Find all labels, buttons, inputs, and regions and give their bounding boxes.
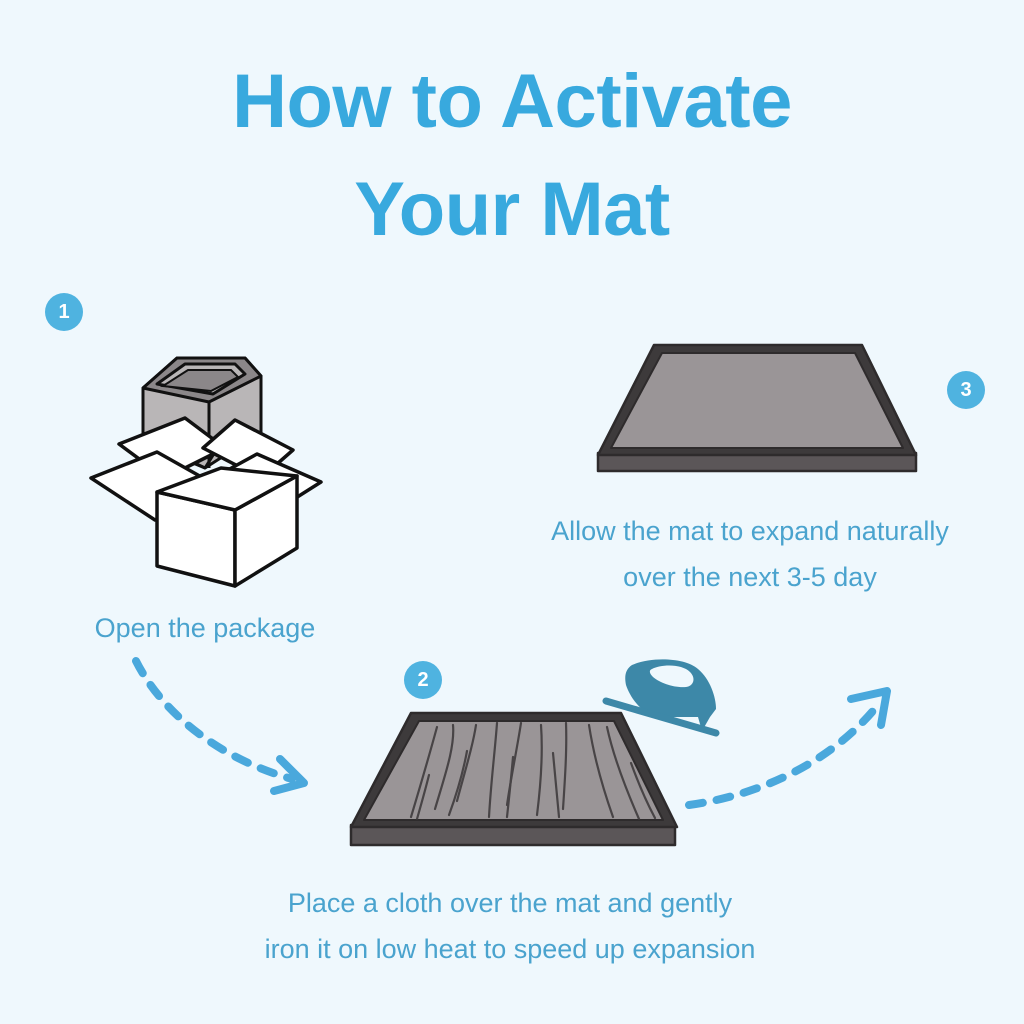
mat-top-surface bbox=[611, 353, 903, 448]
step-2-caption-line-1: Place a cloth over the mat and gently bbox=[185, 880, 835, 926]
page-title-line-2: Your Mat bbox=[0, 156, 1024, 264]
step-2-caption-line-2: iron it on low heat to speed up expansio… bbox=[185, 926, 835, 972]
page-title-line-1: How to Activate bbox=[0, 48, 1024, 156]
step-3-caption-line-2: over the next 3-5 day bbox=[490, 554, 1010, 600]
page-title: How to Activate Your Mat bbox=[0, 48, 1024, 264]
box-body bbox=[157, 468, 297, 586]
open-box-illustration bbox=[85, 340, 335, 590]
step-3-caption-line-1: Allow the mat to expand naturally bbox=[490, 508, 1010, 554]
step-badge-2: 2 bbox=[404, 661, 442, 699]
step-2-caption: Place a cloth over the mat and gently ir… bbox=[185, 880, 835, 973]
step-badge-3: 3 bbox=[947, 371, 985, 409]
step-3-caption: Allow the mat to expand naturally over t… bbox=[490, 508, 1010, 601]
arrow-step2-to-step3 bbox=[675, 675, 920, 820]
arrow-step1-to-step2 bbox=[110, 645, 345, 810]
step-badge-1: 1 bbox=[45, 293, 83, 331]
infographic-poster: How to Activate Your Mat 1 bbox=[0, 0, 1024, 1024]
expanded-mat-illustration bbox=[592, 335, 922, 480]
